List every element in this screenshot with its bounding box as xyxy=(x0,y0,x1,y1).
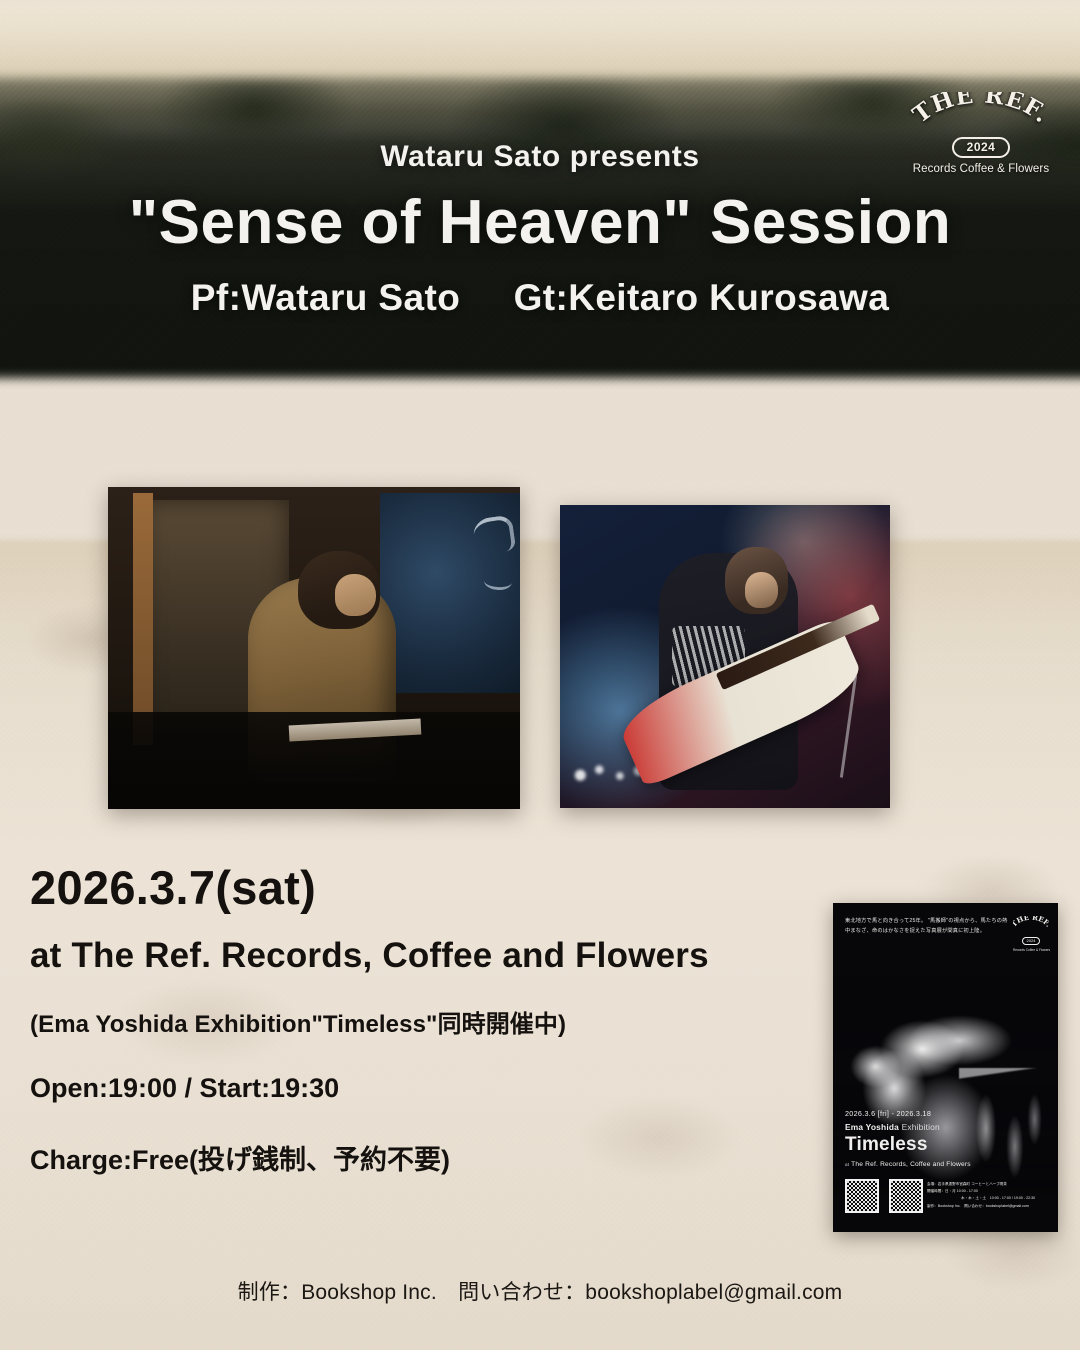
piano-wall-artwork xyxy=(380,493,520,693)
flyer-detail-line-4: 製作：Bookshop Inc. 問い合わせ：bookshoplabel@gma… xyxy=(927,1204,1029,1208)
pianist-face xyxy=(335,574,376,616)
brand-name: THE REF. xyxy=(908,92,1056,129)
guitarist-face xyxy=(745,572,778,608)
guitarist-photo-inner xyxy=(560,505,890,808)
flyer-detail-line-1: 会場：岩手県遠野市宮森町 コーヒーとハーブ喫茶 xyxy=(927,1182,1007,1186)
flyer-artist-name: Ema Yoshida xyxy=(845,1122,899,1132)
event-time: Open:19:00 / Start:19:30 xyxy=(30,1073,830,1104)
pianist-photo-inner xyxy=(108,487,520,809)
qr-code-primary[interactable] xyxy=(845,1179,879,1213)
artwork-stroke-lower xyxy=(483,572,512,591)
flyer-qr-codes[interactable] xyxy=(845,1179,923,1213)
pianist-photo xyxy=(108,487,520,809)
flyer-brand-year: 2024 xyxy=(1022,937,1041,945)
flyer-dates: 2026.3.6 [fri] - 2026.3.18 xyxy=(845,1109,931,1118)
flyer-venue-name: The Ref. Records, Coffee and Flowers xyxy=(851,1161,971,1168)
event-poster: THE REF. 2024 Records Coffee & Flowers W… xyxy=(0,0,1080,1350)
flyer-brand-arc: THE REF. xyxy=(1013,916,1049,929)
flyer-title: Timeless xyxy=(845,1135,928,1154)
flyer-venue-prefix: at xyxy=(845,1162,849,1167)
performers-line: Pf:Wataru Sato Gt:Keitaro Kurosawa xyxy=(0,277,1080,319)
qr-code-secondary[interactable] xyxy=(889,1179,923,1213)
performer-guitar: Gt:Keitaro Kurosawa xyxy=(514,277,890,318)
page-title: "Sense of Heaven" Session xyxy=(0,190,1080,255)
flyer-detail-line-3: 木・木・土・土 10:00 - 17:00 / 19:00 - 22:30 xyxy=(927,1195,1049,1202)
footer-credit: 制作：Bookshop Inc. 問い合わせ：bookshoplabel@gma… xyxy=(0,1276,1080,1306)
exhibition-note: (Ema Yoshida Exhibition"Timeless"同時開催中) xyxy=(30,1004,830,1039)
event-date: 2026.3.7(sat) xyxy=(30,862,830,914)
flyer-artist: Ema Yoshida Exhibition xyxy=(845,1122,940,1132)
artwork-stroke-upper xyxy=(472,515,517,556)
guitarist-photo xyxy=(560,505,890,808)
exhibition-flyer: 東北地方で馬と向き合って25年。 "馬搬師"の視点から、馬たちの熱中まなざ、命の… xyxy=(833,903,1058,1232)
flyer-top-copy: 東北地方で馬と向き合って25年。 "馬搬師"の視点から、馬たちの熱中まなざ、命の… xyxy=(845,917,1012,936)
flyer-artist-suffix: Exhibition xyxy=(902,1122,940,1132)
flyer-details: 会場：岩手県遠野市宮森町 コーヒーとハーブ喫茶 開催時間：日・月 10:00 -… xyxy=(927,1181,1049,1210)
event-venue: at The Ref. Records, Coffee and Flowers xyxy=(30,936,830,976)
flyer-venue: at The Ref. Records, Coffee and Flowers xyxy=(845,1161,971,1168)
presents-line: Wataru Sato presents xyxy=(0,140,1080,174)
flyer-detail-line-2: 開催時間：日・月 10:00 - 17:00 xyxy=(927,1189,978,1193)
flyer-brand-tagline: Records Coffee & Flowers xyxy=(1013,948,1049,952)
flyer-the-ref-logo: THE REF. 2024 Records Coffee & Flowers xyxy=(1013,916,1049,952)
flyer-brand-name: THE REF. xyxy=(1013,916,1049,929)
brand-arc-text: THE REF. xyxy=(906,92,1056,138)
headline-block: Wataru Sato presents "Sense of Heaven" S… xyxy=(0,140,1080,319)
event-charge: Charge:Free(投げ銭制、予約不要) xyxy=(30,1138,830,1177)
performer-piano: Pf:Wataru Sato xyxy=(191,277,460,318)
piano-door-frame xyxy=(133,493,154,744)
event-info-block: 2026.3.7(sat) at The Ref. Records, Coffe… xyxy=(30,862,830,1177)
